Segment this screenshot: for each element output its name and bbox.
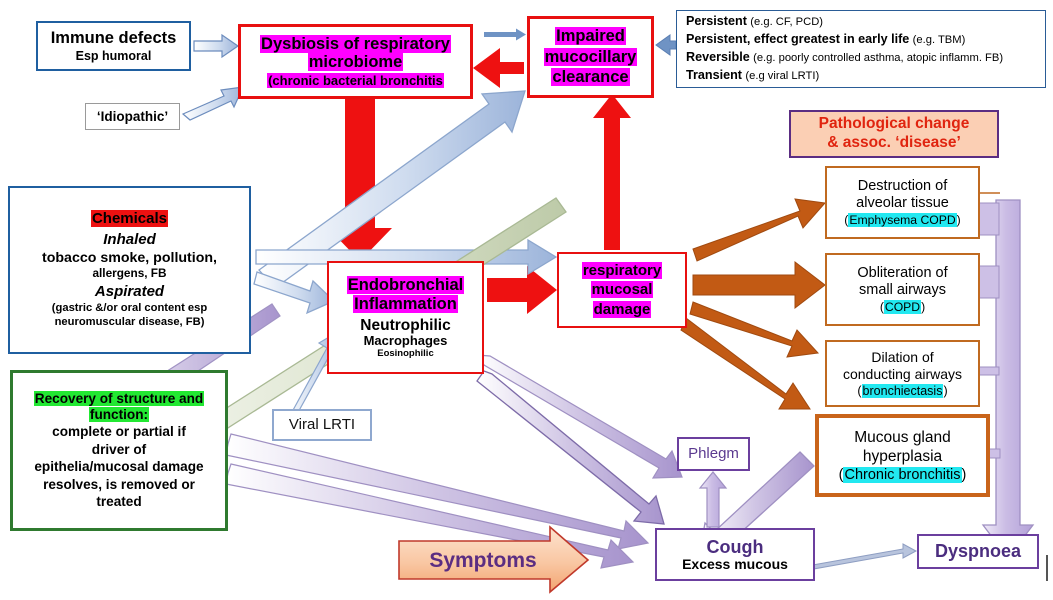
destruction-disease: (Emphysema COPD) [844, 214, 960, 228]
endobronchial-line1: Endobronchial [347, 276, 465, 295]
arrow-respdamage-to-obliteration-orange [693, 262, 825, 308]
arrow-cough-to-phlegm [700, 472, 726, 527]
phlegm-label: Phlegm [688, 446, 739, 463]
chemicals-inhaled-line2: allergens, FB [92, 267, 166, 280]
arrow-legend-to-impaired [656, 35, 676, 55]
diagram-canvas: Immune defects Esp humoral ‘Idiopathic’ … [0, 0, 1053, 600]
endobronchial-eosinophilic: Eosinophilic [377, 349, 433, 360]
recovery-title-line1: Recovery of structure and [34, 391, 204, 407]
mucous-line1: Mucous gland [854, 428, 951, 447]
dysbiosis-line3: (chronic bacterial bronchitis [267, 74, 444, 89]
box-idiopathic[interactable]: ‘Idiopathic’ [85, 103, 180, 130]
immune-defects-title: Immune defects [51, 29, 177, 47]
impaired-line1: Impaired [555, 26, 626, 47]
arrow-respdamage-to-impaired-red [593, 94, 631, 250]
legend-row-transient: Transient (e.g viral LRTI) [686, 67, 819, 85]
recovery-title-line2: function: [89, 407, 149, 423]
box-dyspnoea[interactable]: Dyspnoea [917, 534, 1039, 569]
box-pathological-change-header: Pathological change & assoc. ‘disease’ [789, 110, 999, 158]
cough-line1: Cough [707, 537, 764, 557]
chemicals-aspirated-heading: Aspirated [95, 284, 164, 301]
box-respiratory-mucosal-damage[interactable]: respiratory mucosal damage [557, 252, 687, 328]
impaired-line2: mucocillary [544, 47, 638, 68]
box-mucous-gland-hyperplasia[interactable]: Mucous gland hyperplasia (Chronic bronch… [815, 414, 990, 497]
dilation-disease: (bronchiectasis) [857, 384, 947, 398]
viral-lrti-label: Viral LRTI [289, 417, 355, 434]
edge-mark [1046, 555, 1048, 581]
legend-row-persistent: Persistent (e.g. CF, PCD) [686, 13, 823, 31]
recovery-body-line4: resolves, is removed or [43, 476, 195, 493]
arrow-endobronchial-to-respdamage-red [487, 266, 557, 314]
symptoms-label: Symptoms [408, 546, 558, 576]
box-obliteration-small-airways[interactable]: Obliteration of small airways (COPD) [825, 253, 980, 326]
pathological-line2: & assoc. ‘disease’ [827, 134, 961, 153]
immune-defects-subtitle: Esp humoral [76, 49, 152, 63]
box-chemicals[interactable]: Chemicals Inhaled tobacco smoke, polluti… [8, 186, 251, 354]
arrow-dysbiosis-to-impaired [484, 29, 526, 41]
destruction-line2: alveolar tissue [856, 195, 949, 212]
chemicals-inhaled-line1: tobacco smoke, pollution, [42, 251, 217, 267]
dilation-line1: Dilation of [871, 349, 933, 366]
endobronchial-macrophages: Macrophages [364, 334, 448, 349]
obliteration-line1: Obliteration of [857, 265, 947, 282]
box-immune-defects[interactable]: Immune defects Esp humoral [36, 21, 191, 71]
endobronchial-neutrophilic: Neutrophilic [360, 317, 450, 334]
chemicals-aspirated-line1: (gastric &/or oral content esp [52, 301, 207, 315]
box-recovery[interactable]: Recovery of structure and function: comp… [10, 370, 228, 531]
impaired-line3: clearance [551, 67, 629, 88]
respdamage-line3: damage [593, 300, 652, 320]
box-destruction-alveolar-tissue[interactable]: Destruction of alveolar tissue (Emphysem… [825, 166, 980, 239]
box-cough[interactable]: Cough Excess mucous [655, 528, 815, 581]
endobronchial-line2: Inflammation [353, 295, 458, 314]
dilation-line2: conducting airways [843, 366, 962, 383]
mucous-line2: hyperplasia [863, 447, 942, 466]
box-phlegm[interactable]: Phlegm [677, 437, 750, 471]
cough-line2: Excess mucous [682, 557, 788, 573]
legend-row-reversible: Reversible (e.g. poorly controlled asthm… [686, 49, 1003, 67]
recovery-body-line2: driver of [92, 441, 146, 458]
obliteration-line2: small airways [859, 282, 946, 299]
dyspnoea-label: Dyspnoea [935, 541, 1021, 561]
recovery-body-line3: epithelia/mucosal damage [34, 458, 203, 475]
destruction-line1: Destruction of [858, 178, 947, 195]
respdamage-line2: mucosal [591, 280, 654, 300]
arrow-impaired-to-dysbiosis-red [473, 48, 524, 88]
dysbiosis-line2: microbiome [308, 53, 404, 71]
chemicals-inhaled-heading: Inhaled [103, 232, 156, 249]
mucous-disease: (Chronic bronchitis) [839, 467, 967, 483]
arrow-pathology-to-dyspnoea-vertical [983, 200, 1033, 558]
arrow-idiopathic-to-dysbiosis [183, 87, 243, 120]
box-dilation-conducting-airways[interactable]: Dilation of conducting airways (bronchie… [825, 340, 980, 407]
box-impaired-mucociliary-clearance[interactable]: Impaired mucocillary clearance [527, 16, 654, 98]
pathological-line1: Pathological change [819, 115, 970, 134]
recovery-body-line5: treated [96, 493, 141, 510]
chemicals-title: Chemicals [91, 211, 168, 228]
obliteration-disease: (COPD) [880, 301, 925, 315]
dysbiosis-line1: Dysbiosis of respiratory [260, 35, 451, 53]
arrow-respdamage-to-destruction-orange [693, 199, 825, 261]
chemicals-aspirated-line2: neuromuscular disease, FB) [55, 315, 205, 329]
arrow-immune-to-dysbiosis [194, 35, 238, 57]
box-dysbiosis[interactable]: Dysbiosis of respiratory microbiome (chr… [238, 24, 473, 99]
arrow-chemicals-to-endobronchial [254, 272, 334, 313]
respdamage-line1: respiratory [582, 261, 662, 281]
idiopathic-label: ‘Idiopathic’ [97, 109, 168, 124]
arrow-cough-to-dyspnoea [807, 544, 916, 570]
box-endobronchial-inflammation[interactable]: Endobronchial Inflammation Neutrophilic … [327, 261, 484, 374]
legend-row-persistent-early-life: Persistent, effect greatest in early lif… [686, 31, 965, 49]
legend-box: Persistent (e.g. CF, PCD) Persistent, ef… [676, 10, 1046, 88]
box-viral-lrti[interactable]: Viral LRTI [272, 409, 372, 441]
recovery-body-line1: complete or partial if [52, 423, 186, 440]
